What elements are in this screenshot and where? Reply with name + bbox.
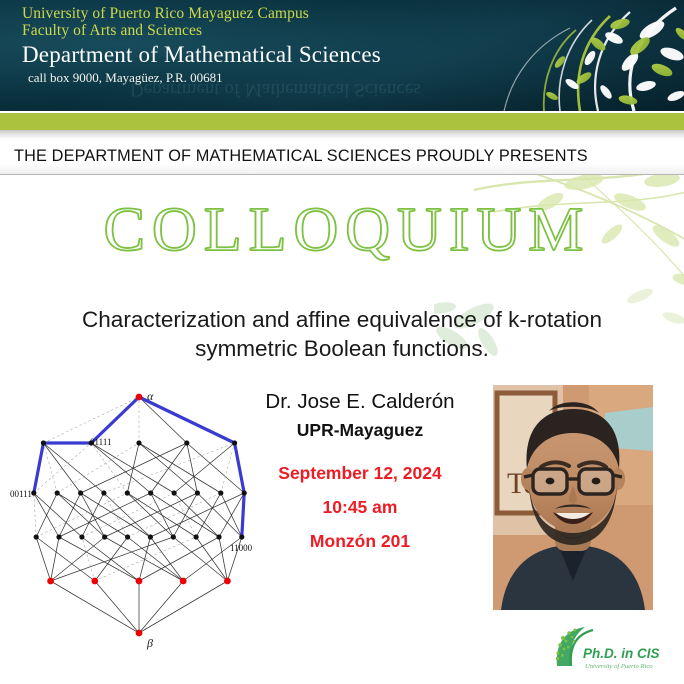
speaker-photo: Te (493, 385, 653, 610)
hypercube-hasse-diagram: α β 01111 00111 11000 (8, 385, 270, 650)
presents-text: THE DEPARTMENT OF MATHEMATICAL SCIENCES … (14, 147, 588, 166)
event-time: 10:45 am (240, 497, 480, 518)
speaker-portrait-illustration: Te (493, 385, 653, 610)
hypercube-vertex (239, 534, 244, 539)
hypercube-vertex (242, 490, 247, 495)
hypercube-vertex (102, 534, 107, 539)
vertex-label-alpha: α (147, 389, 154, 403)
hypercube-vertex (56, 534, 61, 539)
hypercube-vertex (31, 490, 36, 495)
vertex-label-beta: β (146, 636, 153, 650)
hypercube-vertex (78, 490, 83, 495)
address-line: call box 9000, Mayagüez, P.R. 00681 (28, 71, 381, 85)
presents-strip: THE DEPARTMENT OF MATHEMATICAL SCIENCES … (0, 138, 684, 175)
hypercube-vertex (47, 578, 54, 585)
hypercube-vertex (125, 534, 130, 539)
logo-subtitle: University of Puerto Rico (585, 663, 653, 670)
hypercube-vertex (171, 534, 176, 539)
banner-foliage-art (384, 0, 684, 111)
hypercube-vertex (91, 578, 98, 585)
hypercube-vertex (148, 534, 153, 539)
vertex-label-01111: 01111 (90, 437, 112, 447)
hypercube-vertex (218, 490, 223, 495)
faculty-line: Faculty of Arts and Sciences (22, 23, 381, 39)
hypercube-vertex (216, 534, 221, 539)
logo-title: Ph.D. in CISE (583, 646, 659, 661)
vertex-label-00111: 00111 (10, 489, 32, 499)
event-date: September 12, 2024 (240, 463, 480, 484)
speaker-info-block: Dr. Jose E. Calderón UPR-Mayaguez Septem… (240, 390, 480, 552)
hypercube-vertex (41, 440, 46, 445)
hypercube-vertex (55, 490, 60, 495)
hypercube-vertex (180, 578, 187, 585)
colloquium-title-wrap: COLLOQUIUM (0, 190, 684, 270)
hypercube-vertex (79, 534, 84, 539)
colloquium-poster: Department of Mathematical Sciences Univ… (0, 0, 684, 684)
department-line: Department of Mathematical Sciences (22, 43, 381, 67)
phd-cise-logo: Ph.D. in CISE University of Puerto Rico (547, 622, 659, 674)
green-accent-bar (0, 113, 684, 130)
gray-divider-band (0, 130, 684, 138)
hypercube-vertex (172, 490, 177, 495)
hypercube-vertex (136, 578, 143, 585)
hypercube-vertex (136, 440, 141, 445)
hypercube-vertex (136, 630, 143, 637)
talk-title: Characterization and affine equivalence … (62, 306, 622, 364)
hypercube-vertex (101, 490, 106, 495)
hypercube-vertex (194, 534, 199, 539)
university-line: University of Puerto Rico Mayaguez Campu… (22, 6, 381, 22)
vertex-label-11000: 11000 (230, 543, 253, 553)
hypercube-vertex (136, 394, 143, 401)
hypercube-vertex (195, 490, 200, 495)
hypercube-vertex (148, 490, 153, 495)
speaker-name: Dr. Jose E. Calderón (240, 390, 480, 414)
event-room: Monzón 201 (240, 531, 480, 552)
header-banner: Department of Mathematical Sciences Univ… (0, 0, 684, 111)
hypercube-vertex (224, 578, 231, 585)
header-text-block: University of Puerto Rico Mayaguez Campu… (22, 6, 381, 85)
hypercube-vertex (34, 534, 39, 539)
colloquium-title: COLLOQUIUM (94, 199, 591, 261)
hypercube-vertex (184, 440, 189, 445)
hypercube-vertex (232, 440, 237, 445)
hypercube-vertex (125, 490, 130, 495)
speaker-affiliation: UPR-Mayaguez (240, 420, 480, 441)
